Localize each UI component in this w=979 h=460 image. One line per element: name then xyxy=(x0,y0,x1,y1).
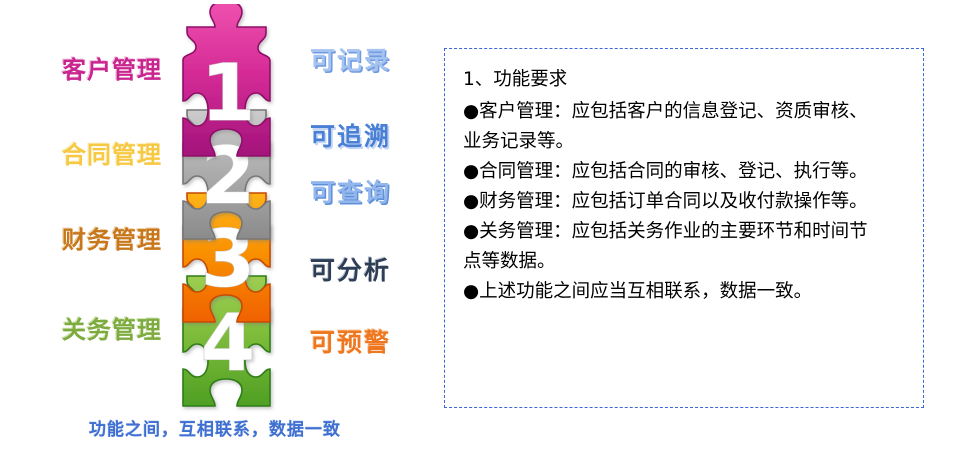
puzzle-stack: 4 3 2 1 xyxy=(152,4,302,414)
module-label-customer: 客户管理 xyxy=(62,58,162,82)
puzzle-diagram: 客户管理 合同管理 财务管理 关务管理 可记录 可追溯 可查询 可分析 可预警 xyxy=(0,0,430,460)
requirements-panel: 1、功能要求 ●客户管理：应包括客户的信息登记、资质审核、 业务记录等。 ●合同… xyxy=(444,48,924,408)
panel-item-customs-line2: 点等数据。 xyxy=(463,247,909,277)
capability-label-recordable: 可记录 xyxy=(310,48,391,73)
capability-label-analyzable: 可分析 xyxy=(310,258,391,283)
panel-heading: 1、功能要求 xyxy=(463,65,909,95)
panel-item-contract: ●合同管理：应包括合同的审核、登记、执行等。 xyxy=(463,157,909,187)
diagram-caption: 功能之间，互相联系，数据一致 xyxy=(0,415,430,440)
module-label-customs: 关务管理 xyxy=(62,318,162,342)
capability-label-alertable: 可预警 xyxy=(310,330,391,355)
slide-canvas: 客户管理 合同管理 财务管理 关务管理 可记录 可追溯 可查询 可分析 可预警 xyxy=(0,0,979,460)
panel-item-customs-line1: ●关务管理：应包括关务作业的主要环节和时间节 xyxy=(463,217,909,247)
capability-label-traceable: 可追溯 xyxy=(310,124,391,149)
panel-item-integration: ●上述功能之间应当互相联系，数据一致。 xyxy=(463,277,909,307)
puzzle-number-1: 1 xyxy=(201,49,255,139)
panel-item-customer-line2: 业务记录等。 xyxy=(463,127,909,157)
puzzle-piece-1: 1 xyxy=(183,4,270,156)
panel-item-customer-line1: ●客户管理：应包括客户的信息登记、资质审核、 xyxy=(463,97,909,127)
panel-item-finance: ●财务管理：应包括订单合同以及收付款操作等。 xyxy=(463,187,909,217)
module-label-contract: 合同管理 xyxy=(62,143,162,167)
capability-label-searchable: 可查询 xyxy=(310,180,391,205)
module-label-finance: 财务管理 xyxy=(62,228,162,252)
